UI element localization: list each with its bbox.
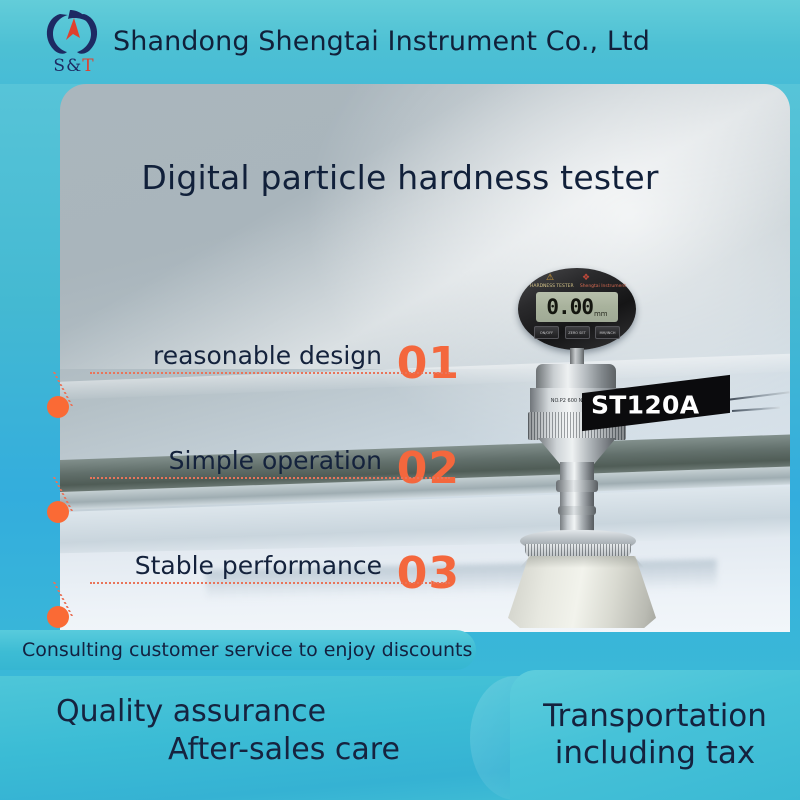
feature-number-2: 02 xyxy=(397,447,460,491)
quality-assurance-line: Quality assurance xyxy=(56,694,326,729)
gauge-button-power[interactable]: ON/OFF ZERO xyxy=(534,326,559,339)
feature-item-1: reasonable design 01 xyxy=(40,328,460,384)
consulting-banner[interactable]: Consulting customer service to enjoy dis… xyxy=(0,630,476,670)
gauge-button-zero[interactable]: ZERO SET xyxy=(565,326,590,339)
consulting-banner-text: Consulting customer service to enjoy dis… xyxy=(22,639,472,661)
gauge-button-row: ON/OFF ZERO ZERO SET MM/INCH xyxy=(534,326,620,339)
lcd-unit: mm xyxy=(594,310,608,318)
feature-item-2: Simple operation 02 xyxy=(40,433,460,489)
gauge-warning-icon: ⚠ xyxy=(546,274,554,283)
feature-connector-line-1 xyxy=(90,372,450,374)
model-badge-group: ST120A xyxy=(582,382,800,434)
feature-label-1: reasonable design xyxy=(153,341,382,370)
company-name: Shandong Shengtai Instrument Co., Ltd xyxy=(113,26,650,57)
feature-bullet-dot-2 xyxy=(47,501,69,523)
model-badge: ST120A xyxy=(582,375,730,431)
device-shaft-ring-upper xyxy=(556,480,598,492)
lcd-reading: 0.00 xyxy=(546,297,593,318)
gauge-brand-right-text: Shengtai Instrument xyxy=(580,284,626,289)
st-compass-logo-icon xyxy=(40,8,108,58)
digital-gauge-head: ⚠ ❖ HARDNESS TESTER Shengtai Instrument … xyxy=(518,268,636,350)
product-poster: S&T Shandong Shengtai Instrument Co., Lt… xyxy=(0,0,800,800)
company-logo: S&T xyxy=(26,6,122,80)
feature-label-2: Simple operation xyxy=(169,446,382,475)
feature-item-3: Stable performance 03 xyxy=(40,538,460,594)
transportation-line-1: Transportation xyxy=(543,698,767,735)
badge-pointer-line-2 xyxy=(732,407,780,412)
badge-pointer-line-1 xyxy=(726,391,790,401)
device-shaft xyxy=(560,462,594,536)
transportation-line-2: including tax xyxy=(555,735,756,772)
feature-number-1: 01 xyxy=(397,342,460,386)
feature-bullet-dot-1 xyxy=(47,396,69,418)
device-flange-knurl xyxy=(525,544,631,558)
gauge-lcd-display: 0.00 mm xyxy=(536,292,618,322)
gauge-brand-left-text: HARDNESS TESTER xyxy=(530,284,574,289)
logo-letter-s: S xyxy=(53,56,66,76)
feature-connector-line-3 xyxy=(90,582,450,584)
page-title: Digital particle hardness tester xyxy=(0,158,800,197)
gauge-button-unit[interactable]: MM/INCH xyxy=(595,326,620,339)
gauge-brand-icon: ❖ xyxy=(582,274,590,283)
hardness-tester-device: ⚠ ❖ HARDNESS TESTER Shengtai Instrument … xyxy=(470,268,700,608)
model-badge-text: ST120A xyxy=(591,390,699,419)
feature-connector-line-2 xyxy=(90,477,450,479)
feature-bullet-dot-3 xyxy=(47,606,69,628)
logo-wordmark: S&T xyxy=(26,56,122,76)
feature-number-3: 03 xyxy=(397,552,460,596)
transportation-panel: Transportation including tax xyxy=(510,670,800,800)
pedestal-shading xyxy=(514,556,650,568)
logo-letter-t: T xyxy=(82,56,94,76)
feature-label-3: Stable performance xyxy=(135,551,382,580)
device-tapered-section xyxy=(538,438,616,464)
device-shaft-ring-lower xyxy=(558,506,596,515)
logo-ampersand: & xyxy=(66,56,82,76)
poster-header: S&T Shandong Shengtai Instrument Co., Lt… xyxy=(0,0,800,84)
after-sales-care-line: After-sales care xyxy=(168,732,400,767)
